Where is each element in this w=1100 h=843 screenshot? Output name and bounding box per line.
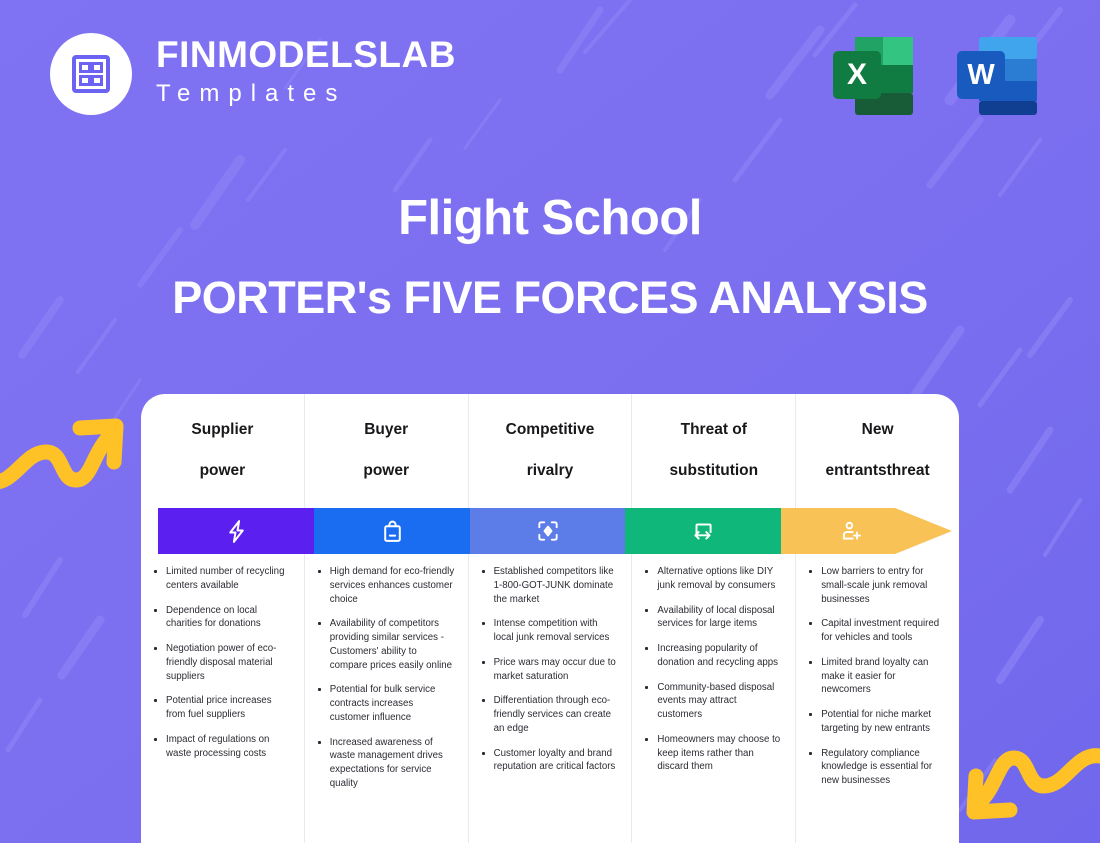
- force-title-line1: Buyer: [363, 420, 409, 440]
- force-header-supplier-power: Supplier power: [141, 394, 305, 508]
- target-focus-icon: [535, 518, 561, 544]
- band-buyer-power: [314, 508, 470, 554]
- force-title-line2: rivalry: [506, 461, 595, 481]
- list-item: Regulatory compliance knowledge is essen…: [808, 747, 946, 788]
- shopping-bag-icon: [380, 519, 405, 544]
- exchange-arrows-icon: [690, 518, 716, 544]
- svg-text:W: W: [967, 59, 995, 91]
- list-item: Price wars may occur due to market satur…: [481, 656, 619, 684]
- force-title-line2: power: [363, 461, 409, 481]
- force-body-new-entrants-threat: Low barriers to entry for small-scale ju…: [796, 554, 959, 843]
- excel-icon: X: [825, 27, 921, 123]
- page-subtitle: PORTER's FIVE FORCES ANALYSIS: [0, 272, 1100, 324]
- squiggle-arrow-up-right-icon: [0, 404, 128, 496]
- forces-header-row: Supplier power Buyer power Competitive r…: [141, 394, 959, 508]
- list-item: Capital investment required for vehicles…: [808, 617, 946, 645]
- bullet-list-competitive-rivalry: Established competitors like 1-800-GOT-J…: [481, 565, 619, 774]
- page-title: Flight School: [0, 190, 1100, 246]
- bullet-list-supplier-power: Limited number of recycling centers avai…: [153, 565, 291, 760]
- force-header-buyer-power: Buyer power: [305, 394, 469, 508]
- forces-table: Supplier power Buyer power Competitive r…: [141, 394, 959, 843]
- list-item: Low barriers to entry for small-scale ju…: [808, 565, 946, 606]
- brand-text: FINMODELSLAB Templates: [156, 36, 456, 112]
- lightning-bolt-icon: [224, 519, 249, 544]
- band-threat-of-substitution: [625, 508, 781, 554]
- list-item: Availability of competitors providing si…: [317, 617, 455, 672]
- list-item: Negotiation power of eco-friendly dispos…: [153, 642, 291, 683]
- force-header-competitive-rivalry: Competitive rivalry: [469, 394, 633, 508]
- band-competitive-rivalry: [470, 508, 625, 554]
- bullet-list-new-entrants-threat: Low barriers to entry for small-scale ju…: [808, 565, 946, 788]
- list-item: Alternative options like DIY junk remova…: [644, 565, 782, 593]
- list-item: High demand for eco-friendly services en…: [317, 565, 455, 606]
- list-item: Increasing popularity of donation and re…: [644, 642, 782, 670]
- brand-logo: FINMODELSLAB Templates: [50, 33, 456, 115]
- svg-text:X: X: [847, 58, 867, 91]
- force-body-buyer-power: High demand for eco-friendly services en…: [305, 554, 469, 843]
- squiggle-arrow-down-left-icon: [962, 742, 1100, 834]
- title-block: Flight School PORTER's FIVE FORCES ANALY…: [0, 190, 1100, 324]
- brand-subtitle: Templates: [156, 76, 456, 112]
- list-item: Limited brand loyalty can make it easier…: [808, 656, 946, 697]
- force-title-line1: Supplier: [191, 420, 253, 440]
- force-title-line1: New: [825, 420, 929, 440]
- list-item: Customer loyalty and brand reputation ar…: [481, 747, 619, 775]
- list-item: Potential for bulk service contracts inc…: [317, 683, 455, 724]
- force-title-line2: entrantsthreat: [825, 461, 929, 481]
- page-header: FINMODELSLAB Templates X W: [0, 0, 1100, 150]
- list-item: Increased awareness of waste management …: [317, 736, 455, 791]
- force-body-supplier-power: Limited number of recycling centers avai…: [141, 554, 305, 843]
- bullet-list-threat-of-substitution: Alternative options like DIY junk remova…: [644, 565, 782, 774]
- porters-five-forces-card: Supplier power Buyer power Competitive r…: [141, 394, 959, 843]
- brand-name: FINMODELSLAB: [156, 36, 456, 73]
- list-item: Impact of regulations on waste processin…: [153, 733, 291, 761]
- list-item: Potential price increases from fuel supp…: [153, 694, 291, 722]
- list-item: Established competitors like 1-800-GOT-J…: [481, 565, 619, 606]
- list-item: Differentiation through eco-friendly ser…: [481, 694, 619, 735]
- app-icons: X W: [825, 27, 1045, 123]
- list-item: Potential for niche market targeting by …: [808, 708, 946, 736]
- add-user-icon: [838, 518, 864, 544]
- list-item: Community-based disposal events may attr…: [644, 681, 782, 722]
- force-body-threat-of-substitution: Alternative options like DIY junk remova…: [632, 554, 796, 843]
- logo-circle: [50, 33, 132, 115]
- force-title-line1: Threat of: [669, 420, 758, 440]
- force-body-competitive-rivalry: Established competitors like 1-800-GOT-J…: [469, 554, 633, 843]
- force-header-threat-of-substitution: Threat of substitution: [632, 394, 796, 508]
- grid-squares-icon: [71, 54, 111, 94]
- list-item: Intense competition with local junk remo…: [481, 617, 619, 645]
- forces-icon-banner: [158, 508, 952, 554]
- force-header-new-entrants-threat: New entrantsthreat: [796, 394, 959, 508]
- bullet-list-buyer-power: High demand for eco-friendly services en…: [317, 565, 455, 791]
- list-item: Availability of local disposal services …: [644, 604, 782, 632]
- list-item: Limited number of recycling centers avai…: [153, 565, 291, 593]
- list-item: Dependence on local charities for donati…: [153, 604, 291, 632]
- force-title-line1: Competitive: [506, 420, 595, 440]
- band-new-entrants-threat: [781, 508, 921, 554]
- list-item: Homeowners may choose to keep items rath…: [644, 733, 782, 774]
- forces-body-row: Limited number of recycling centers avai…: [141, 554, 959, 843]
- force-title-line2: substitution: [669, 461, 758, 481]
- word-icon: W: [949, 27, 1045, 123]
- force-title-line2: power: [191, 461, 253, 481]
- band-supplier-power: [158, 508, 314, 554]
